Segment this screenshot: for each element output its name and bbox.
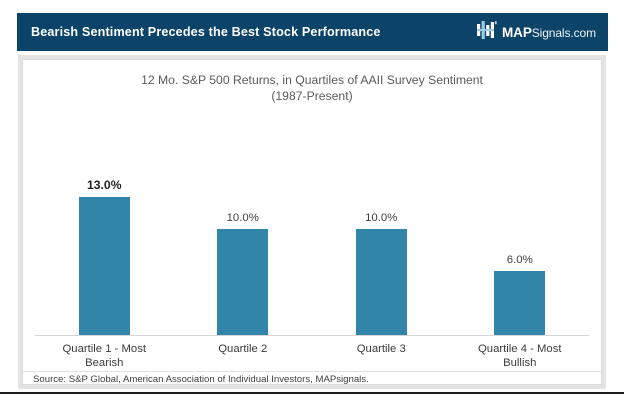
source-divider [23,371,601,372]
x-axis-category-labels: Quartile 1 - Most Bearish Quartile 2 Qua… [35,342,589,370]
chart-title-line2: (1987-Present) [23,88,601,104]
x-tick-line1: Quartile 2 [218,343,267,355]
bar-rect[interactable] [356,229,407,335]
chart-panel: 12 Mo. S&P 500 Returns, in Quartiles of … [22,59,602,385]
x-tick-line1: Quartile 4 - Most [478,343,562,355]
chart-title-line1: 12 Mo. S&P 500 Returns, in Quartiles of … [141,73,483,87]
x-tick-line1: Quartile 3 [357,343,406,355]
bar-chart-logo-icon [477,20,498,45]
bar-value-label: 10.0% [227,212,259,224]
plot-area: 13.0% 10.0% 10.0% 6.0% [35,118,589,336]
logo-wordmark-bold: MAP [502,25,532,40]
bar-group-quartile-3[interactable]: 10.0% [312,118,451,335]
x-tick-line2: Bearish [35,356,174,370]
bar-group-quartile-1[interactable]: 13.0% [35,118,174,335]
bottom-margin-strip [0,394,624,403]
bar-rect[interactable] [494,271,545,335]
chart-title: 12 Mo. S&P 500 Returns, in Quartiles of … [23,72,601,104]
bar-series: 13.0% 10.0% 10.0% 6.0% [35,118,589,335]
x-tick-label-quartile-3: Quartile 3 [312,342,451,370]
x-tick-label-quartile-1: Quartile 1 - Most Bearish [35,342,174,370]
bar-value-label: 6.0% [507,254,533,266]
bar-value-label: 10.0% [365,212,397,224]
slide-canvas: Bearish Sentiment Precedes the Best Stoc… [0,0,624,403]
x-tick-label-quartile-4: Quartile 4 - Most Bullish [451,342,590,370]
page-title: Bearish Sentiment Precedes the Best Stoc… [31,25,381,39]
logo-wordmark-light: Signals.com [532,26,596,40]
mapsignals-logo[interactable]: MAPSignals.com [477,20,596,45]
bar-rect[interactable] [79,197,130,335]
x-tick-line2: Bullish [451,356,590,370]
x-axis-line [35,335,589,336]
logo-wordmark: MAPSignals.com [502,25,596,40]
source-note: Source: S&P Global, American Association… [33,374,369,385]
bar-group-quartile-4[interactable]: 6.0% [451,118,590,335]
bar-rect[interactable] [217,229,268,335]
bar-group-quartile-2[interactable]: 10.0% [174,118,313,335]
x-tick-line1: Quartile 1 - Most [63,343,147,355]
header-bar: Bearish Sentiment Precedes the Best Stoc… [17,13,608,51]
bar-value-label: 13.0% [87,178,122,192]
x-tick-label-quartile-2: Quartile 2 [174,342,313,370]
